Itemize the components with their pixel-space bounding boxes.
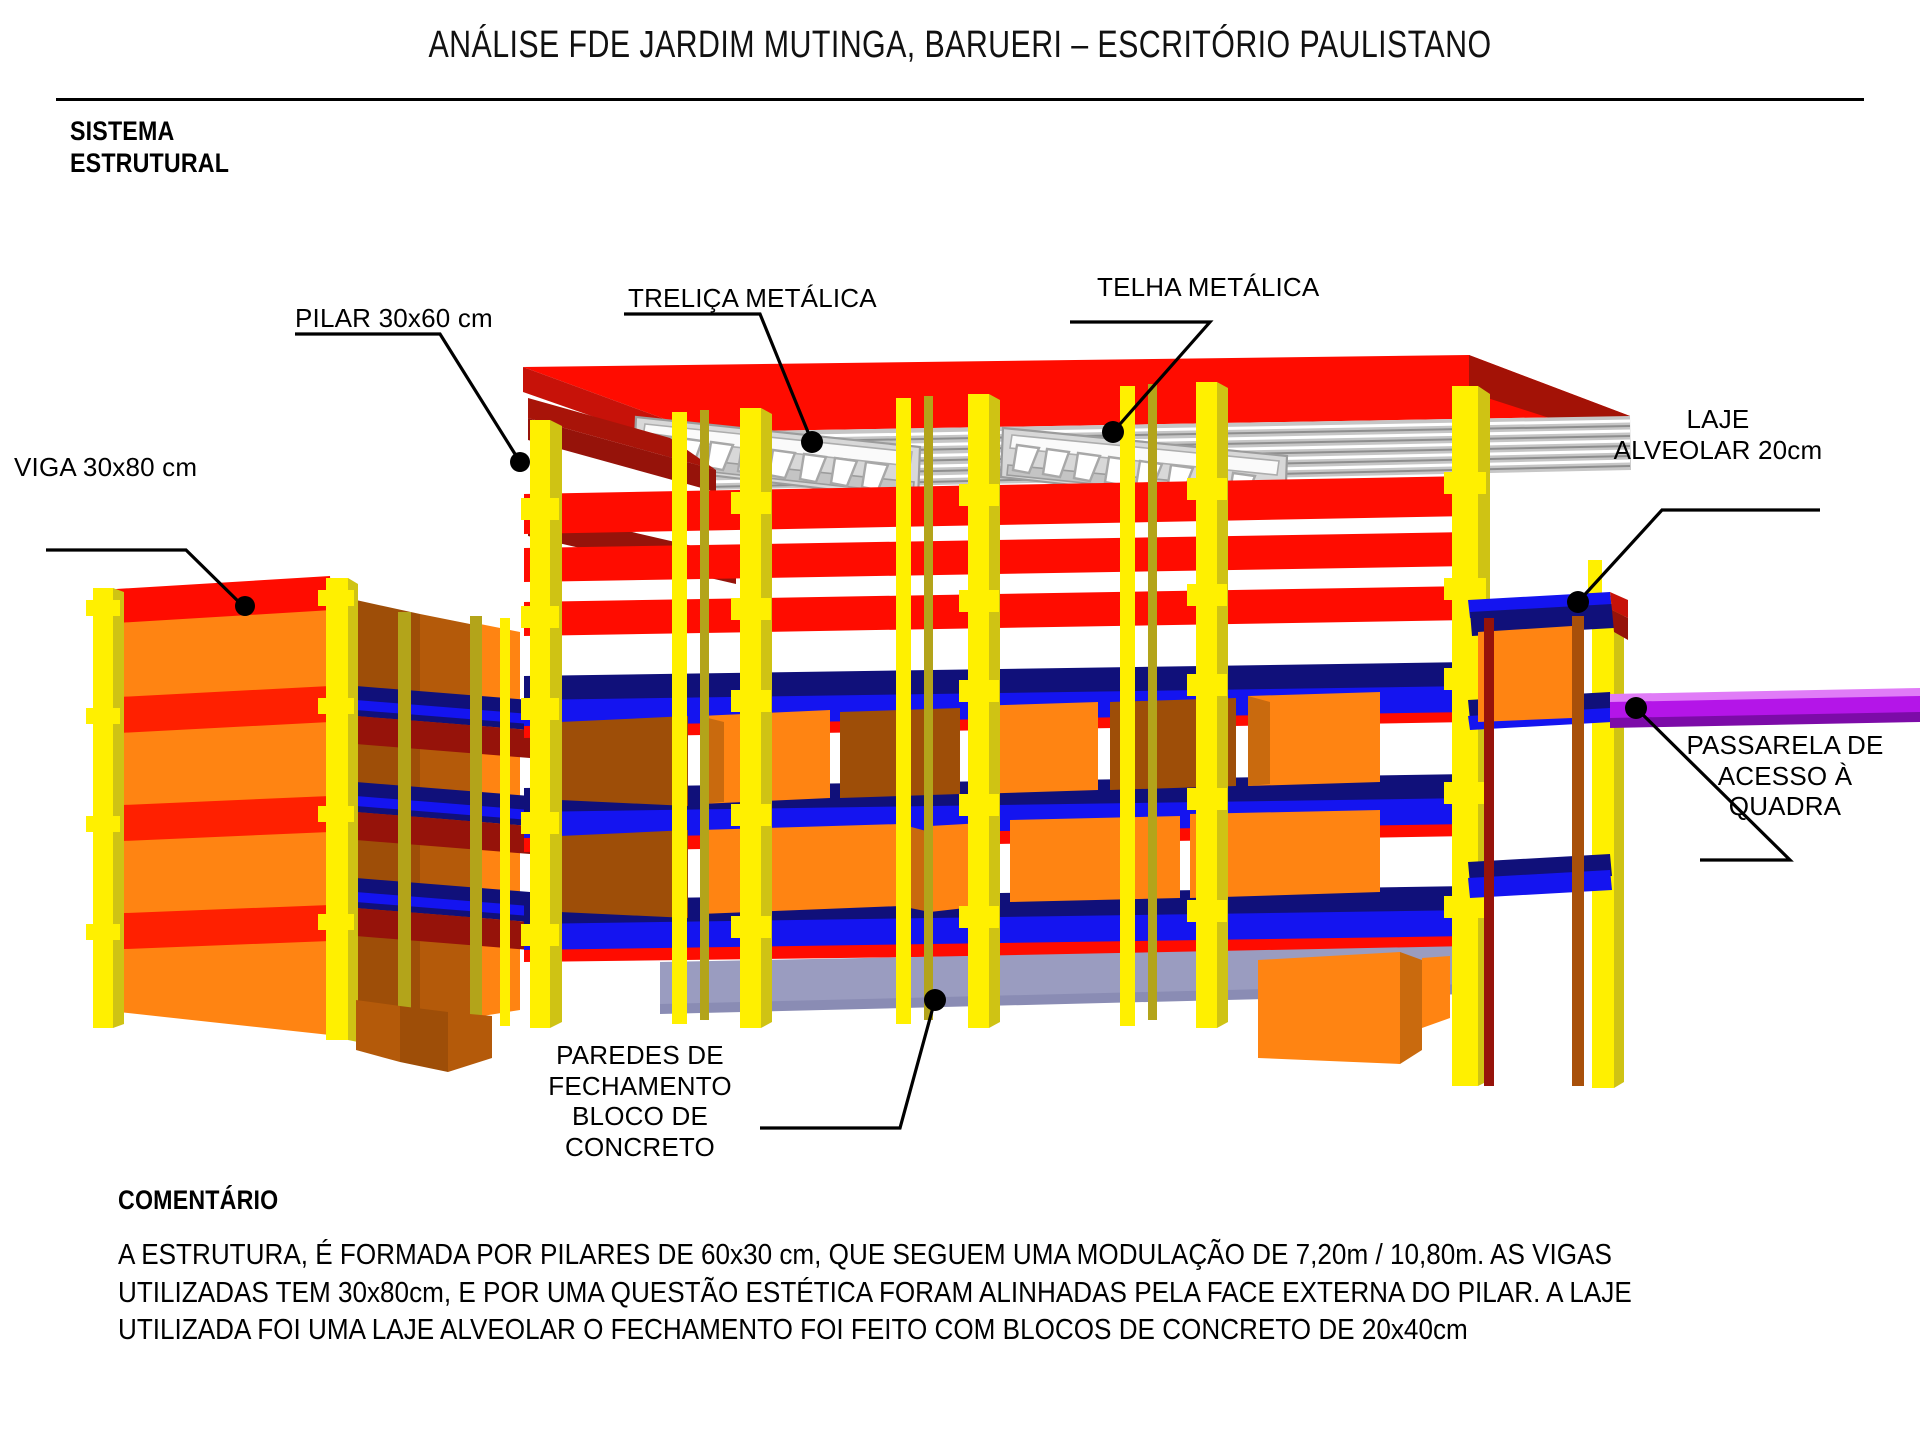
lower-walls (1258, 952, 1450, 1064)
label-passarela: PASSARELA DE ACESSO À QUADRA (1660, 730, 1910, 822)
comment-body: A ESTRUTURA, É FORMADA POR PILARES DE 60… (118, 1237, 1702, 1350)
label-laje: LAJE ALVEOLAR 20cm (1568, 404, 1868, 465)
label-pilar: PILAR 30x60 cm (295, 303, 493, 334)
passarela-walkway (1610, 688, 1920, 728)
right-bay (1468, 592, 1920, 1086)
comment-heading: COMENTÁRIO (118, 1185, 278, 1216)
left-annex (86, 576, 530, 1072)
label-telha: TELHA METÁLICA (1097, 272, 1319, 303)
label-paredes: PAREDES DE FECHAMENTO BLOCO DE CONCRETO (530, 1040, 750, 1163)
main-block (521, 382, 1624, 1088)
label-trelica: TRELIÇA METÁLICA (628, 283, 877, 314)
drawing-sheet: ANÁLISE FDE JARDIM MUTINGA, BARUERI – ES… (0, 0, 1920, 1440)
structure-illustration (0, 0, 1920, 1440)
label-viga: VIGA 30x80 cm (14, 452, 197, 483)
